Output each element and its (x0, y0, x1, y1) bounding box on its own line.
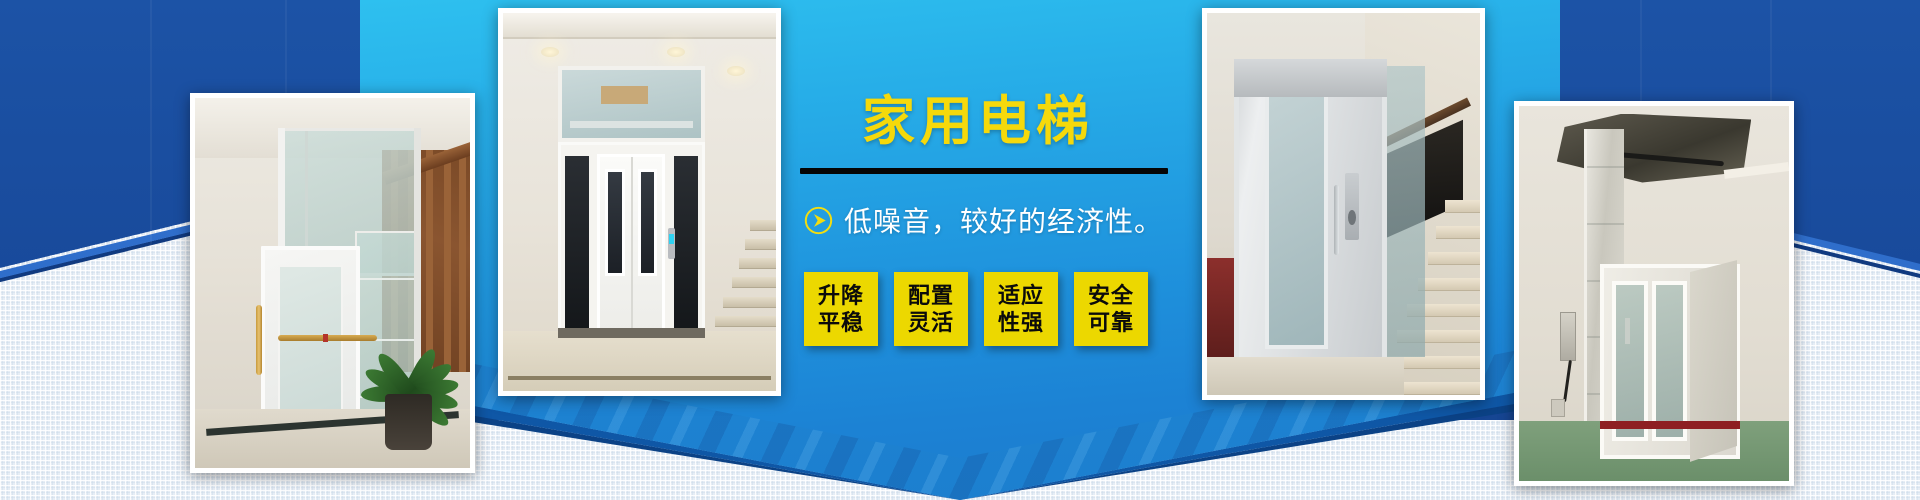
feature-tag-4-line1: 安全 (1088, 282, 1134, 310)
feature-tag-1-line1: 升降 (818, 282, 864, 310)
photo-home-elevator-glass-shaft[interactable] (190, 93, 475, 473)
ceiling-spotlight (727, 66, 745, 76)
door-handle (1334, 185, 1339, 255)
circle-play-arrow-icon (804, 206, 833, 235)
sheen-band (150, 0, 152, 280)
steel-elevator-cabin (1234, 59, 1387, 372)
feature-tag-list: 升降 平稳 配置 灵活 适应 性强 安全 可靠 (804, 272, 1148, 346)
brass-door-handle (256, 305, 262, 375)
upper-glass-machine-room (558, 66, 705, 142)
floor (1207, 357, 1404, 395)
feature-tag-2[interactable]: 配置 灵活 (894, 272, 968, 346)
feature-tag-4[interactable]: 安全 可靠 (1074, 272, 1148, 346)
home-elevator-banner: 家用电梯 低噪音，较好的经济性。 升降 平稳 配置 灵活 适应 性强 (0, 0, 1920, 500)
floor (503, 331, 776, 391)
wall-socket (1551, 399, 1565, 418)
banner-subtitle-row: 低噪音，较好的经济性。 (804, 200, 1163, 240)
photo-4-image (1519, 106, 1789, 481)
cabin-door-right (1652, 281, 1688, 442)
photo-1-image (195, 98, 470, 468)
door-sill (558, 328, 705, 338)
side-glass-right (674, 156, 698, 330)
feature-tag-1-line2: 平稳 (818, 309, 864, 337)
cabin-base-strip (1600, 421, 1740, 429)
feature-tag-4-line2: 可靠 (1088, 309, 1134, 337)
photo-3-image (1207, 13, 1480, 395)
control-panel (1345, 173, 1359, 240)
brass-push-bar (278, 335, 377, 341)
banner-subtitle: 低噪音，较好的经济性。 (844, 200, 1163, 240)
floor-trim-line (508, 376, 770, 380)
feature-tag-2-line1: 配置 (908, 282, 954, 310)
marble-staircase (705, 187, 776, 346)
cabin-door-left (1612, 281, 1648, 442)
feature-tag-3-line1: 适应 (998, 282, 1044, 310)
control-panel (668, 228, 675, 260)
title-divider (800, 168, 1168, 174)
cabin-header-frame (1234, 59, 1387, 97)
potted-plant (363, 287, 457, 450)
cabin-glass-door (1265, 88, 1328, 349)
banner-text-content: 家用电梯 低噪音，较好的经济性。 升降 平稳 配置 灵活 适应 性强 (800, 0, 1220, 500)
feature-tag-3[interactable]: 适应 性强 (984, 272, 1058, 346)
double-doors (597, 154, 665, 332)
photo-steel-elevator-marble-stairs[interactable] (1202, 8, 1485, 400)
feature-tag-2-line2: 灵活 (908, 309, 954, 337)
photo-white-elevator-double-doors[interactable] (498, 8, 781, 396)
elevator-frame (558, 142, 705, 346)
feature-tag-1[interactable]: 升降 平稳 (804, 272, 878, 346)
cabin-side-panel (1690, 260, 1738, 462)
ceiling-crown-molding (503, 13, 776, 39)
banner-title: 家用电梯 (862, 95, 1094, 148)
ceiling-spotlight (667, 47, 685, 57)
call-button-panel (1560, 312, 1576, 361)
ceiling-spotlight (541, 47, 559, 57)
photo-2-image (503, 13, 776, 391)
feature-tag-3-line2: 性强 (998, 309, 1044, 337)
elevator-cabin-wrapped (1600, 264, 1740, 459)
photo-new-elevator-protective-film[interactable] (1514, 101, 1794, 486)
side-glass-left (565, 156, 589, 330)
